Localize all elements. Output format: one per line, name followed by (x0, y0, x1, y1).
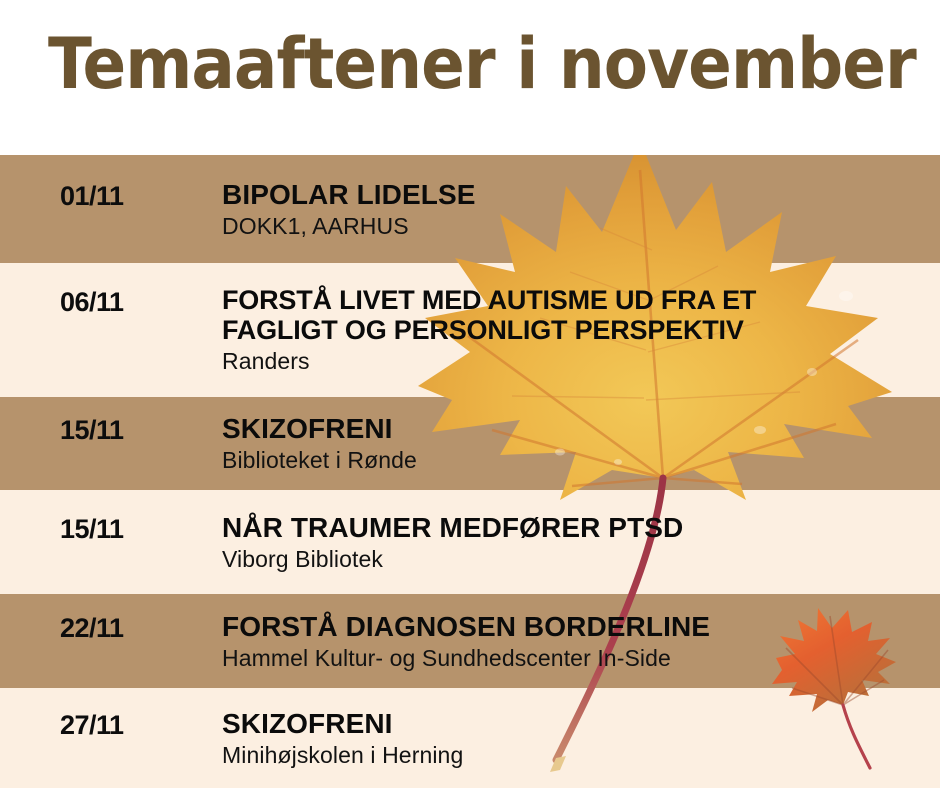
page-title: Temaaftener i november (48, 28, 916, 102)
event-body: NÅR TRAUMER MEDFØRER PTSDViborg Bibliote… (222, 512, 922, 573)
event-body: BIPOLAR LIDELSEDOKK1, AARHUS (222, 179, 922, 240)
event-venue: Viborg Bibliotek (222, 546, 922, 573)
event-venue: DOKK1, AARHUS (222, 213, 922, 240)
event-body: SKIZOFRENIMinihøjskolen i Herning (222, 708, 922, 769)
poster-canvas: Temaaftener i november 01/11BIPOLAR LIDE… (0, 0, 940, 788)
event-row[interactable]: 06/11FORSTÅ LIVET MED AUTISME UD FRA ET … (0, 263, 940, 397)
event-row[interactable]: 01/11BIPOLAR LIDELSEDOKK1, AARHUS (0, 155, 940, 263)
event-venue: Biblioteket i Rønde (222, 447, 922, 474)
event-date: 22/11 (60, 613, 210, 644)
event-date: 15/11 (60, 514, 210, 545)
poster-header: Temaaftener i november (0, 0, 940, 155)
event-venue: Hammel Kultur- og Sundhedscenter In-Side (222, 645, 922, 672)
event-title: NÅR TRAUMER MEDFØRER PTSD (222, 512, 922, 543)
event-body: FORSTÅ DIAGNOSEN BORDERLINEHammel Kultur… (222, 611, 922, 672)
event-row[interactable]: 27/11SKIZOFRENIMinihøjskolen i Herning (0, 688, 940, 788)
event-date: 15/11 (60, 415, 210, 446)
event-venue: Randers (222, 348, 922, 375)
event-date: 06/11 (60, 287, 210, 318)
event-title: SKIZOFRENI (222, 413, 922, 444)
event-date: 01/11 (60, 181, 210, 212)
event-body: FORSTÅ LIVET MED AUTISME UD FRA ET FAGLI… (222, 285, 922, 375)
event-title: FORSTÅ DIAGNOSEN BORDERLINE (222, 611, 922, 642)
event-venue: Minihøjskolen i Herning (222, 742, 922, 769)
event-row[interactable]: 15/11NÅR TRAUMER MEDFØRER PTSDViborg Bib… (0, 490, 940, 594)
event-title: FORSTÅ LIVET MED AUTISME UD FRA ET FAGLI… (222, 285, 922, 345)
event-body: SKIZOFRENIBiblioteket i Rønde (222, 413, 922, 474)
event-title: BIPOLAR LIDELSE (222, 179, 922, 210)
event-date: 27/11 (60, 710, 210, 741)
event-row[interactable]: 15/11SKIZOFRENIBiblioteket i Rønde (0, 397, 940, 490)
event-title: SKIZOFRENI (222, 708, 922, 739)
event-row[interactable]: 22/11FORSTÅ DIAGNOSEN BORDERLINEHammel K… (0, 594, 940, 688)
